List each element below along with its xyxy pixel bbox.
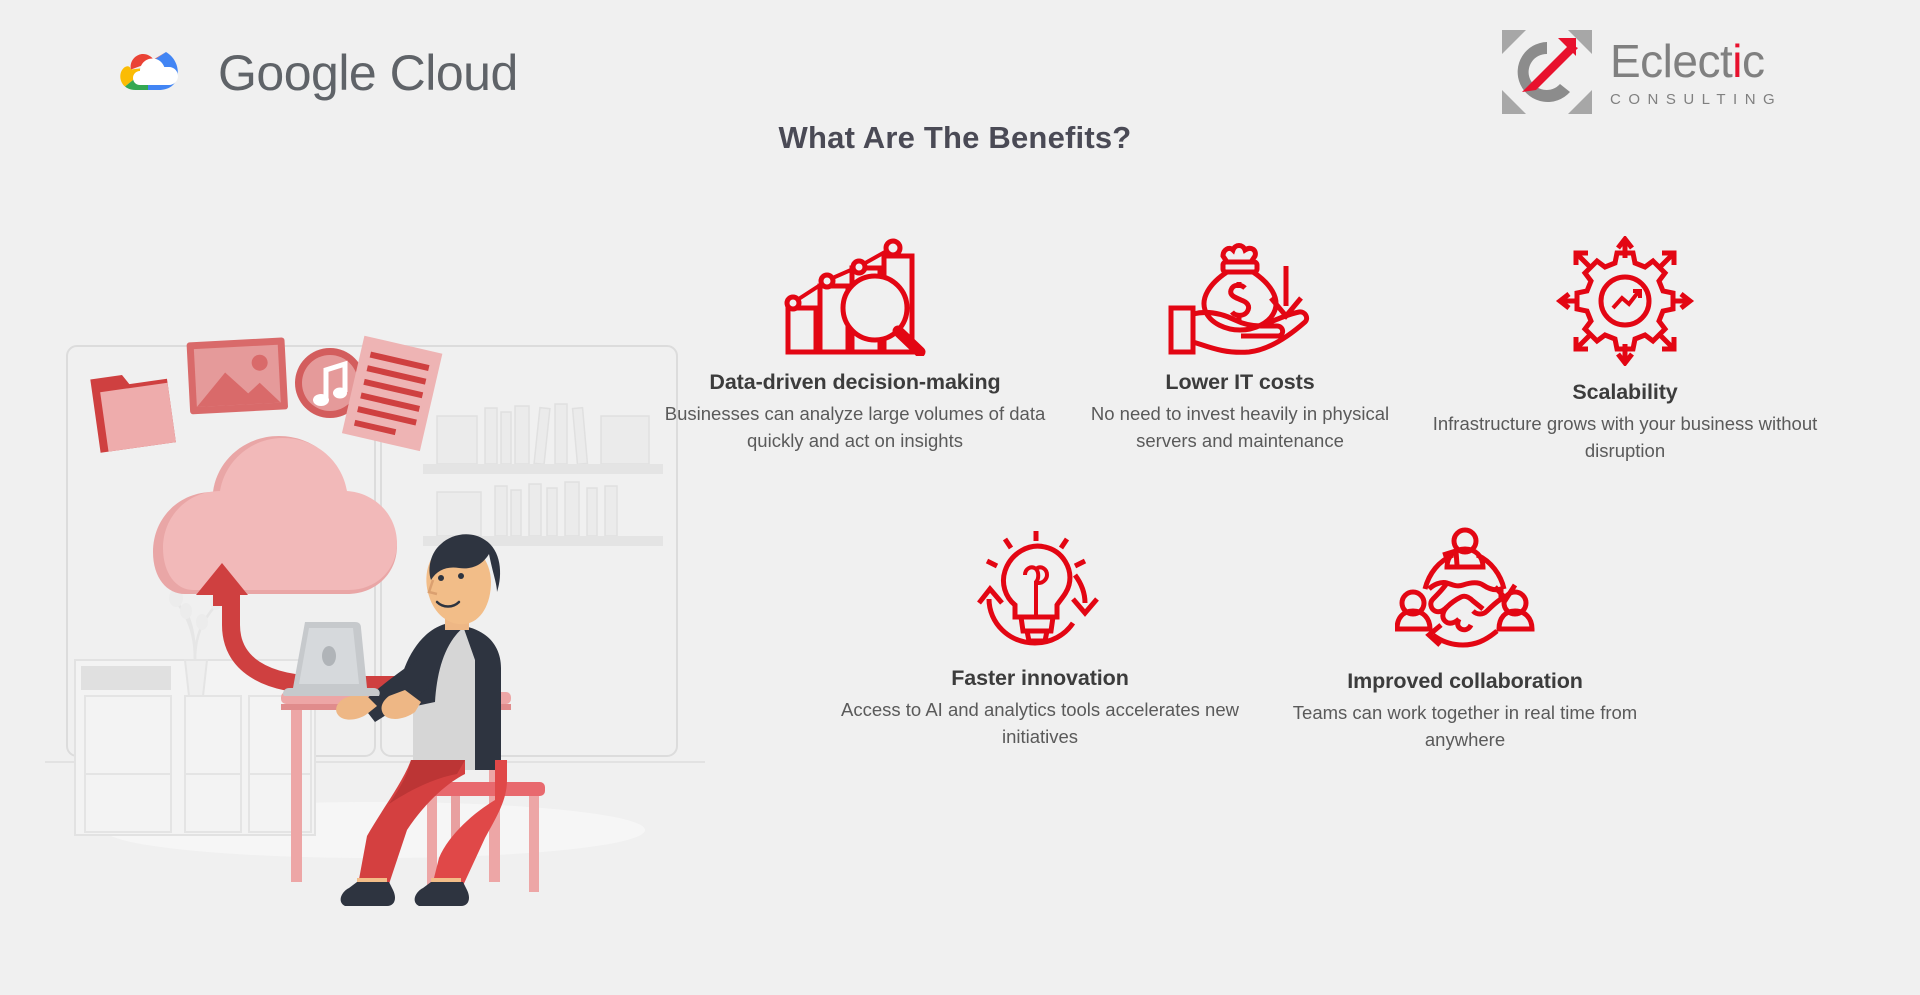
benefit-description: Access to AI and analytics tools acceler… [830,697,1250,750]
benefit-card-scalability: Scalability Infrastructure grows with yo… [1425,236,1825,464]
eclectic-name: Eclectic [1610,38,1782,84]
slide-canvas: Google Cloud Eclectic CONSULTING What Ar… [0,0,1920,995]
benefit-card-faster-innovation: Faster innovation Access to AI and analy… [830,527,1250,750]
benefit-heading: Scalability [1425,380,1825,405]
eclectic-name-pre: Eclect [1610,35,1732,87]
benefit-description: No need to invest heavily in physical se… [1065,401,1415,454]
handshake-team-cycle-icon [1255,527,1675,655]
cloud-word: Cloud [390,45,518,101]
google-word: Google [218,45,376,101]
eclectic-name-post: c [1742,35,1765,87]
eclectic-c-mark-icon [1500,28,1594,116]
cloud-shape [153,436,397,594]
eclectic-consulting-logo: Eclectic CONSULTING [1500,28,1782,116]
eclectic-name-i: i [1732,35,1742,87]
benefit-heading: Lower IT costs [1065,370,1415,395]
image-icon [186,337,288,414]
lightbulb-cycle-icon [830,527,1250,652]
benefit-description: Teams can work together in real time fro… [1255,700,1675,753]
page-title: What Are The Benefits? [0,120,1920,156]
eclectic-wordmark: Eclectic CONSULTING [1610,38,1782,107]
benefit-card-data-driven: Data-driven decision-making Businesses c… [655,236,1055,454]
benefit-heading: Improved collaboration [1255,669,1675,694]
google-cloud-logo-icon [118,38,196,108]
gear-expand-arrows-icon [1425,236,1825,366]
folder-icon [90,369,176,453]
google-cloud-logo: Google Cloud [118,38,518,108]
benefit-heading: Faster innovation [830,666,1250,691]
benefit-description: Infrastructure grows with your business … [1425,411,1825,464]
cloud-worker-illustration [45,330,705,910]
page-title-text: What Are The Benefits? [779,120,1132,156]
document-icon [342,336,442,451]
hand-money-bag-down-arrow-icon [1065,236,1415,356]
eclectic-subtitle: CONSULTING [1610,92,1782,107]
google-cloud-wordmark: Google Cloud [218,44,518,102]
benefit-description: Businesses can analyze large volumes of … [655,401,1055,454]
benefit-card-improved-collaboration: Improved collaboration Teams can work to… [1255,527,1675,753]
benefit-card-lower-it-costs: Lower IT costs No need to invest heavily… [1065,236,1415,454]
benefit-heading: Data-driven decision-making [655,370,1055,395]
bar-chart-magnifier-icon [655,236,1055,356]
